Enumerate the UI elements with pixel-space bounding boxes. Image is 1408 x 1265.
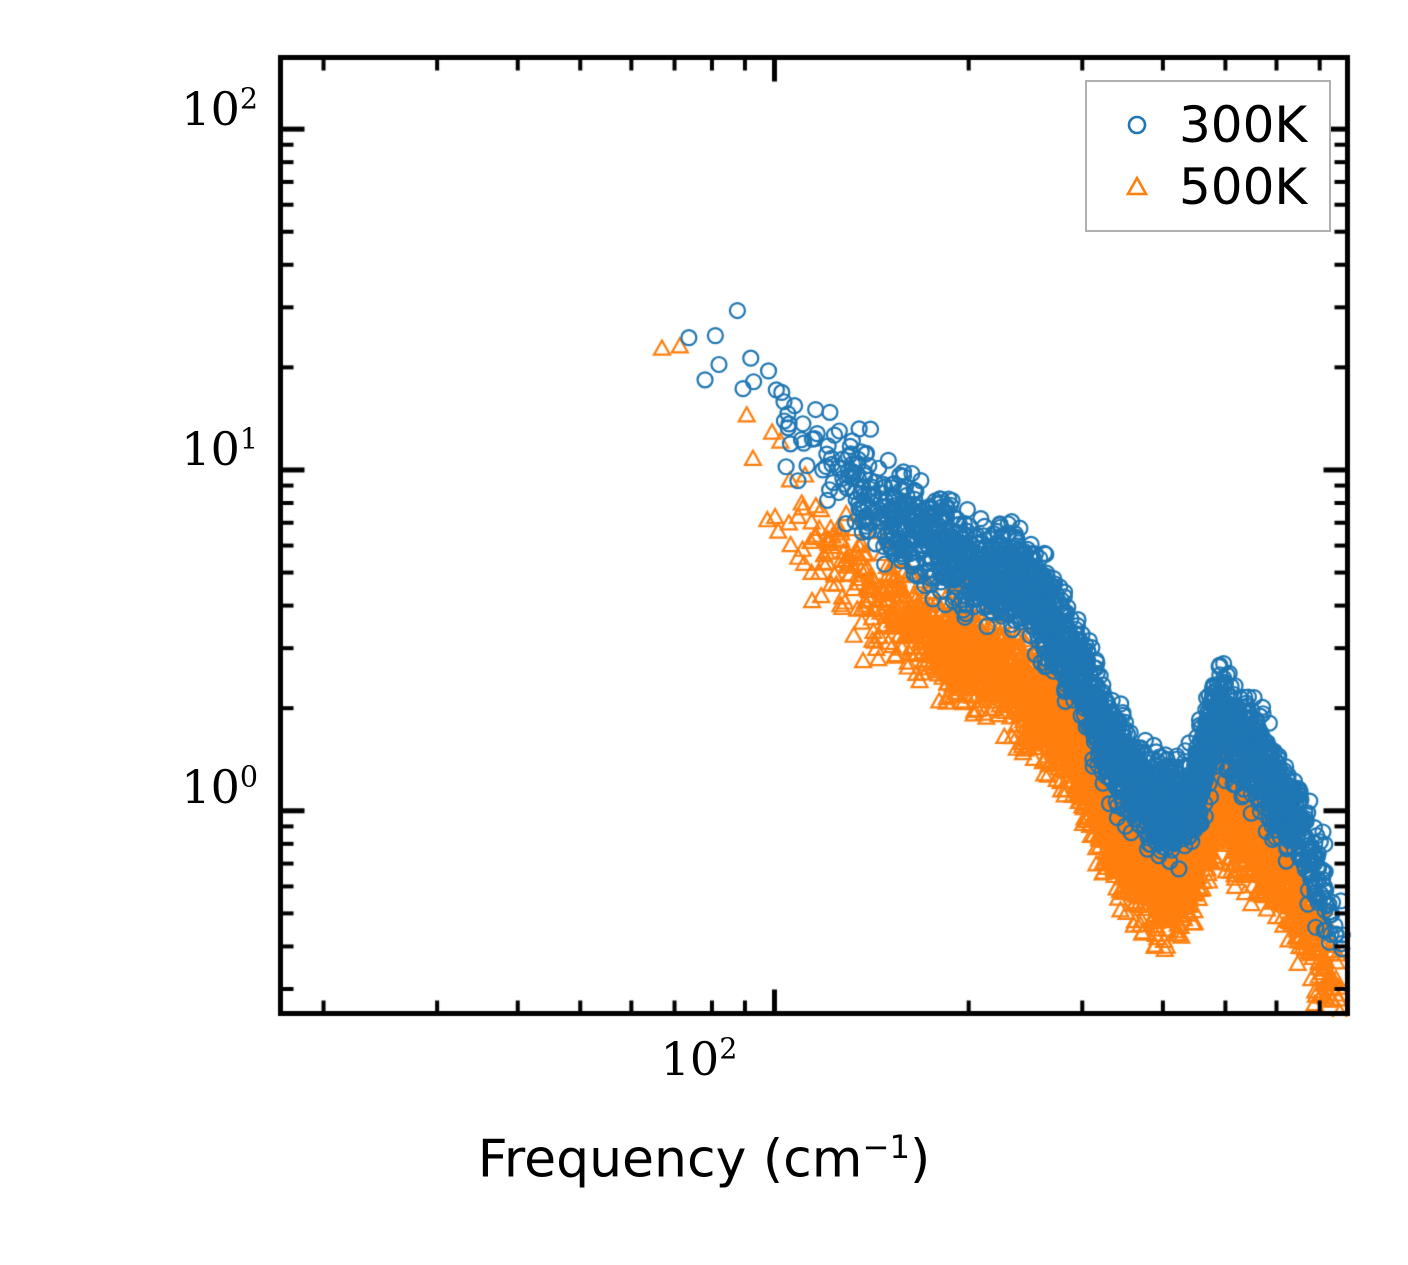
x-axis-label: Frequency (cm−1) [0,1128,1408,1189]
triangle-open-icon [1109,174,1165,200]
y-tick-label-1: 100 [118,760,258,814]
legend-entry-500k: 500K [1087,156,1329,218]
legend-entry-300k: 300K [1087,94,1329,156]
circle-open-icon [1109,112,1165,138]
y-axis-label: Lifetime (ps) [0,0,90,1265]
y-tick-label-100: 102 [118,82,258,136]
legend: 300K 500K [1085,80,1331,232]
legend-label-300k: 300K [1179,96,1307,154]
x-tick-label-100: 102 [629,1032,769,1086]
y-tick-label-10: 101 [118,422,258,476]
figure-scatter-plot: 102 101 100 102 Frequency (cm−1) Lifetim… [0,0,1408,1265]
legend-label-500k: 500K [1179,158,1307,216]
